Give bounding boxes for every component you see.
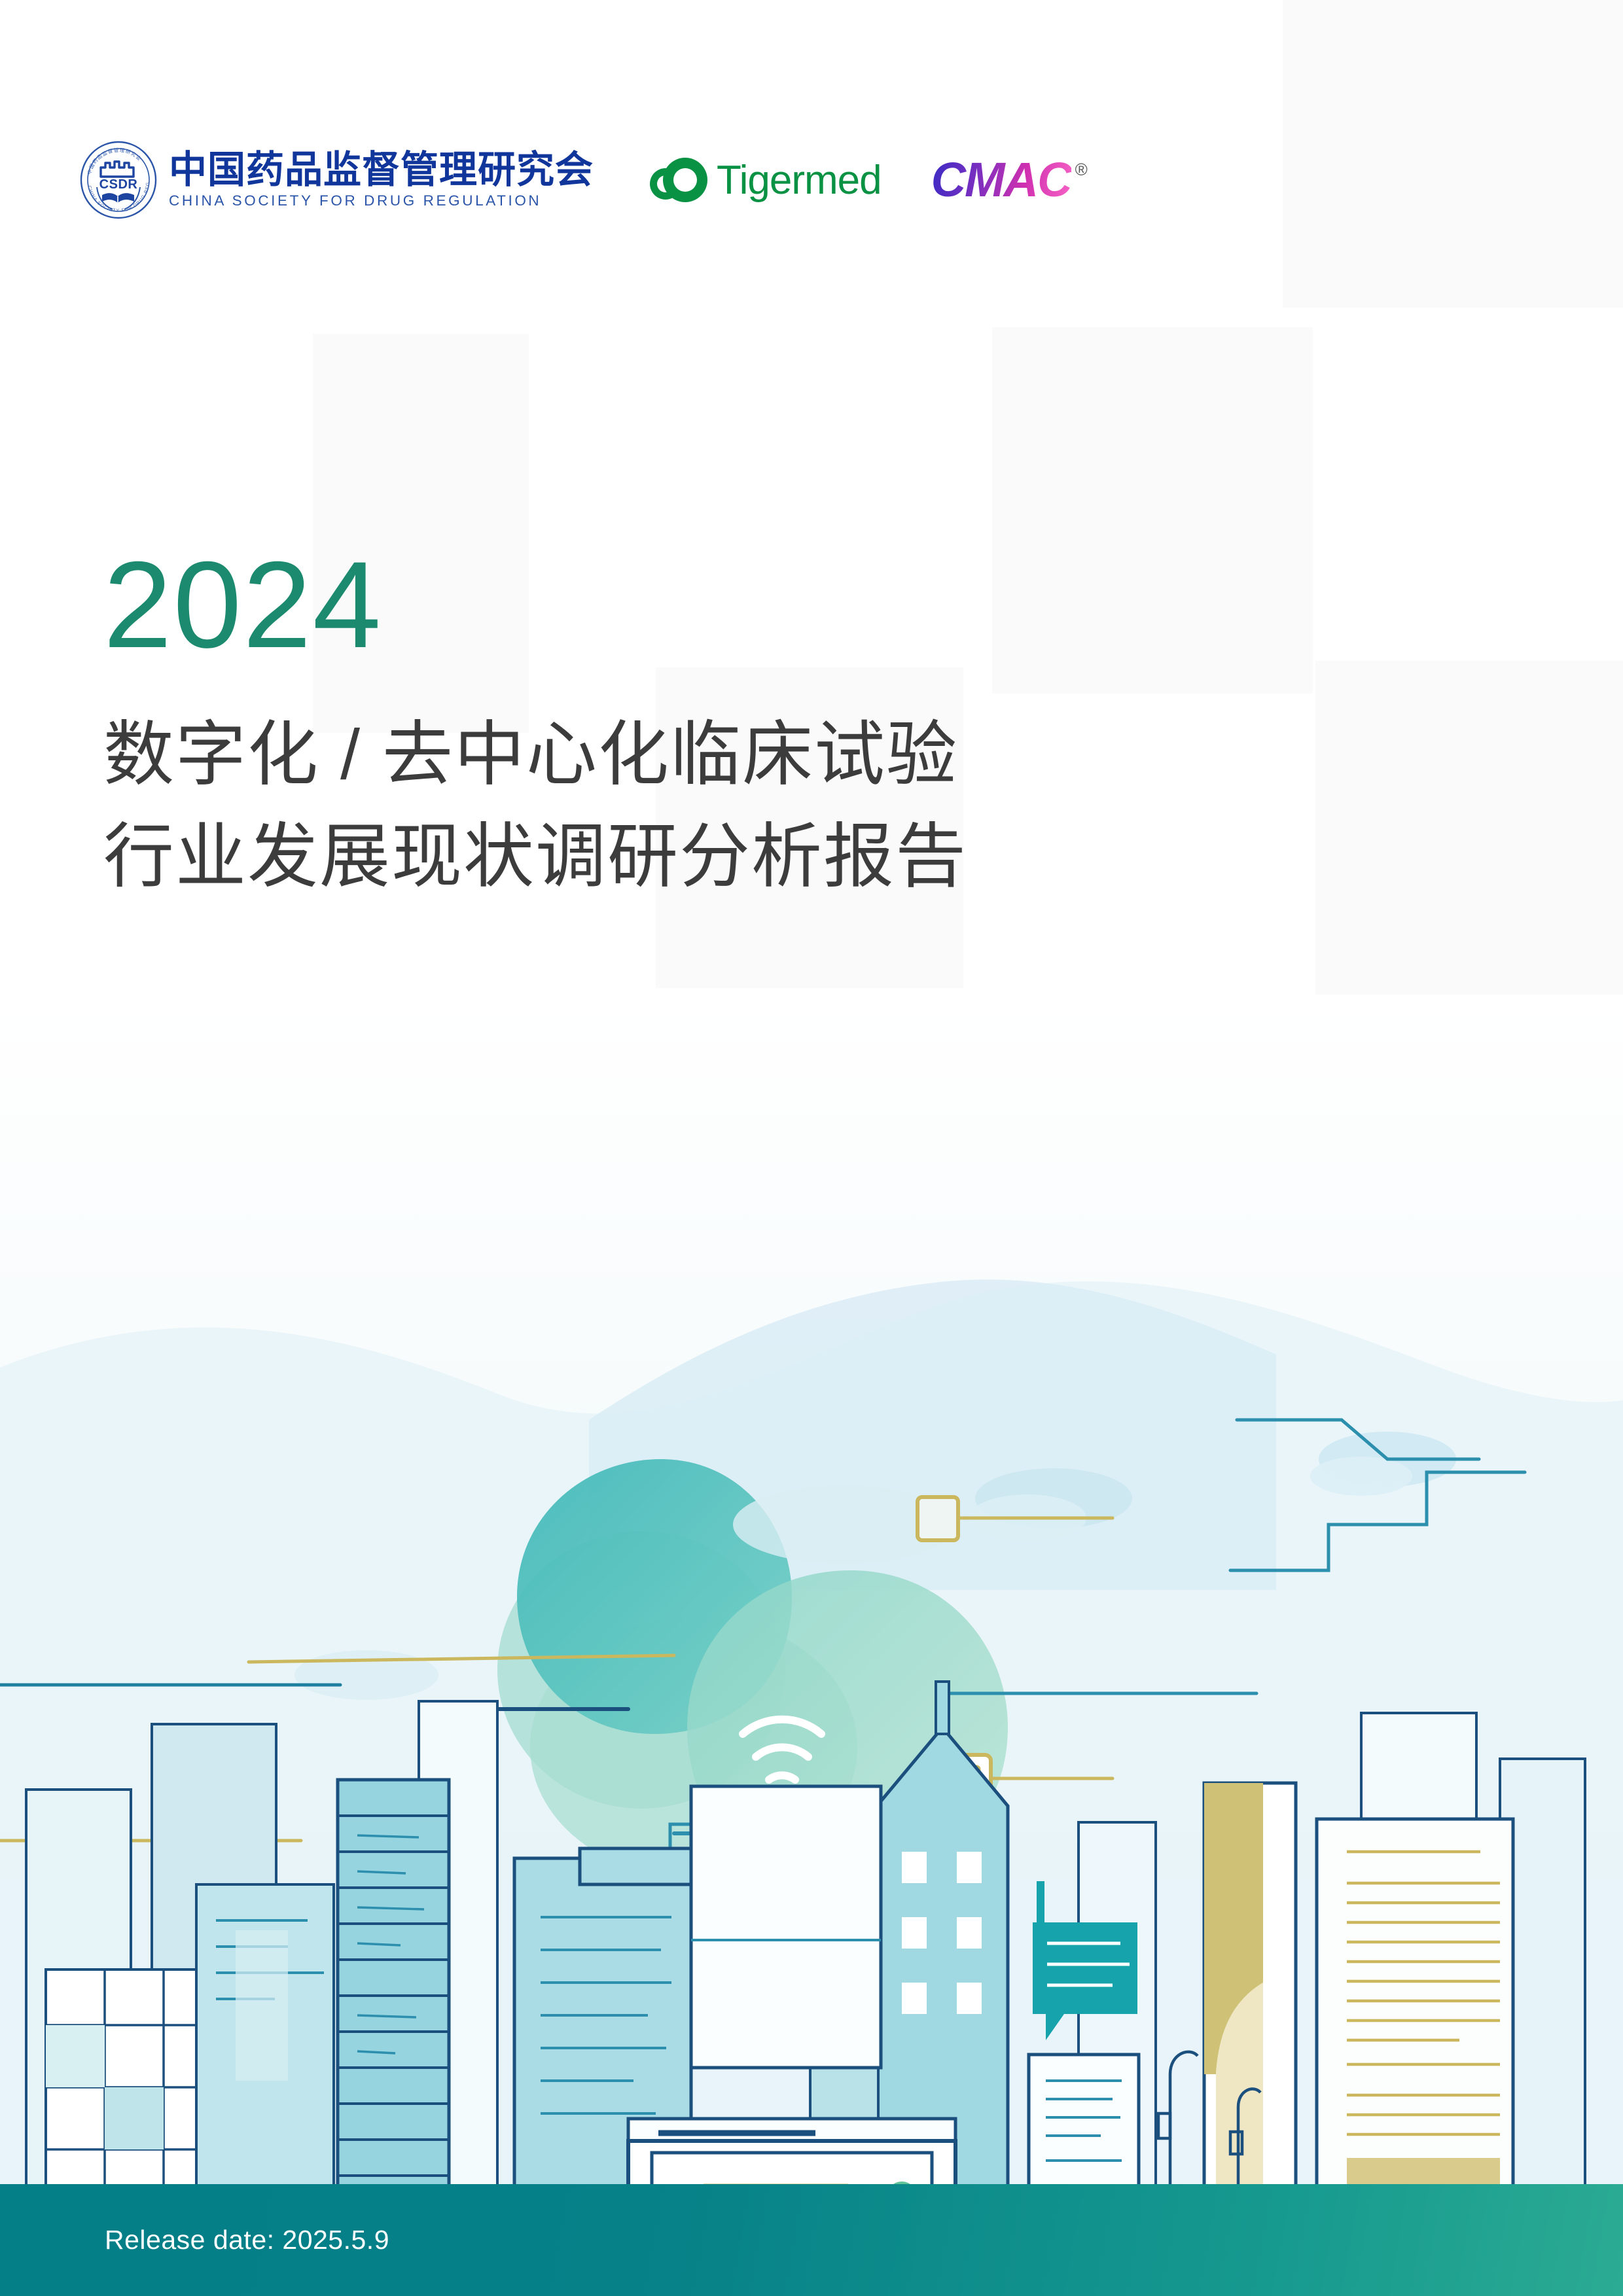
cover-illustration xyxy=(0,1001,1623,2296)
logo-bar: CSDR 中国药品监督管理研究会 CHINA SOCIETY FOR DRUG … xyxy=(79,131,1088,229)
cover-title: 数字化 / 去中心化临床试验 行业发展现状调研分析报告 xyxy=(103,703,967,907)
csdr-name-en: CHINA SOCIETY FOR DRUG REGULATION xyxy=(169,192,594,209)
tigermed-mark-icon xyxy=(647,156,713,203)
gold-tower xyxy=(1204,1783,1296,2195)
csdr-name-cn: 中国药品监督管理研究会 xyxy=(169,150,594,190)
tigermed-wordmark: Tigermed xyxy=(717,157,882,203)
logo-cmac: CMAC ® xyxy=(931,156,1088,204)
cmac-wordmark: CMAC xyxy=(931,156,1071,204)
background-block-top-right xyxy=(1283,0,1623,308)
background-block-center xyxy=(992,327,1313,694)
cover-title-line-1: 数字化 / 去中心化临床试验 xyxy=(103,703,967,805)
svg-text:CSDR: CSDR xyxy=(99,177,138,192)
document-tower xyxy=(1317,1819,1513,2195)
csdr-wordmark: 中国药品监督管理研究会 CHINA SOCIETY FOR DRUG REGUL… xyxy=(169,150,594,210)
cmac-registered-icon: ® xyxy=(1075,160,1088,180)
background-block-right xyxy=(1315,661,1623,995)
logo-tigermed: Tigermed xyxy=(647,156,882,203)
csdr-seal-icon: CSDR 中国药品监督管理研究会 CHINA SOCIETY FOR DRUG … xyxy=(79,140,158,220)
document-card xyxy=(1029,2055,1139,2195)
logo-csdr: CSDR 中国药品监督管理研究会 CHINA SOCIETY FOR DRUG … xyxy=(79,140,594,220)
cover-year: 2024 xyxy=(103,543,382,666)
release-date-label: Release date: 2025.5.9 xyxy=(105,2225,389,2255)
cover-title-line-2: 行业发展现状调研分析报告 xyxy=(103,805,967,908)
